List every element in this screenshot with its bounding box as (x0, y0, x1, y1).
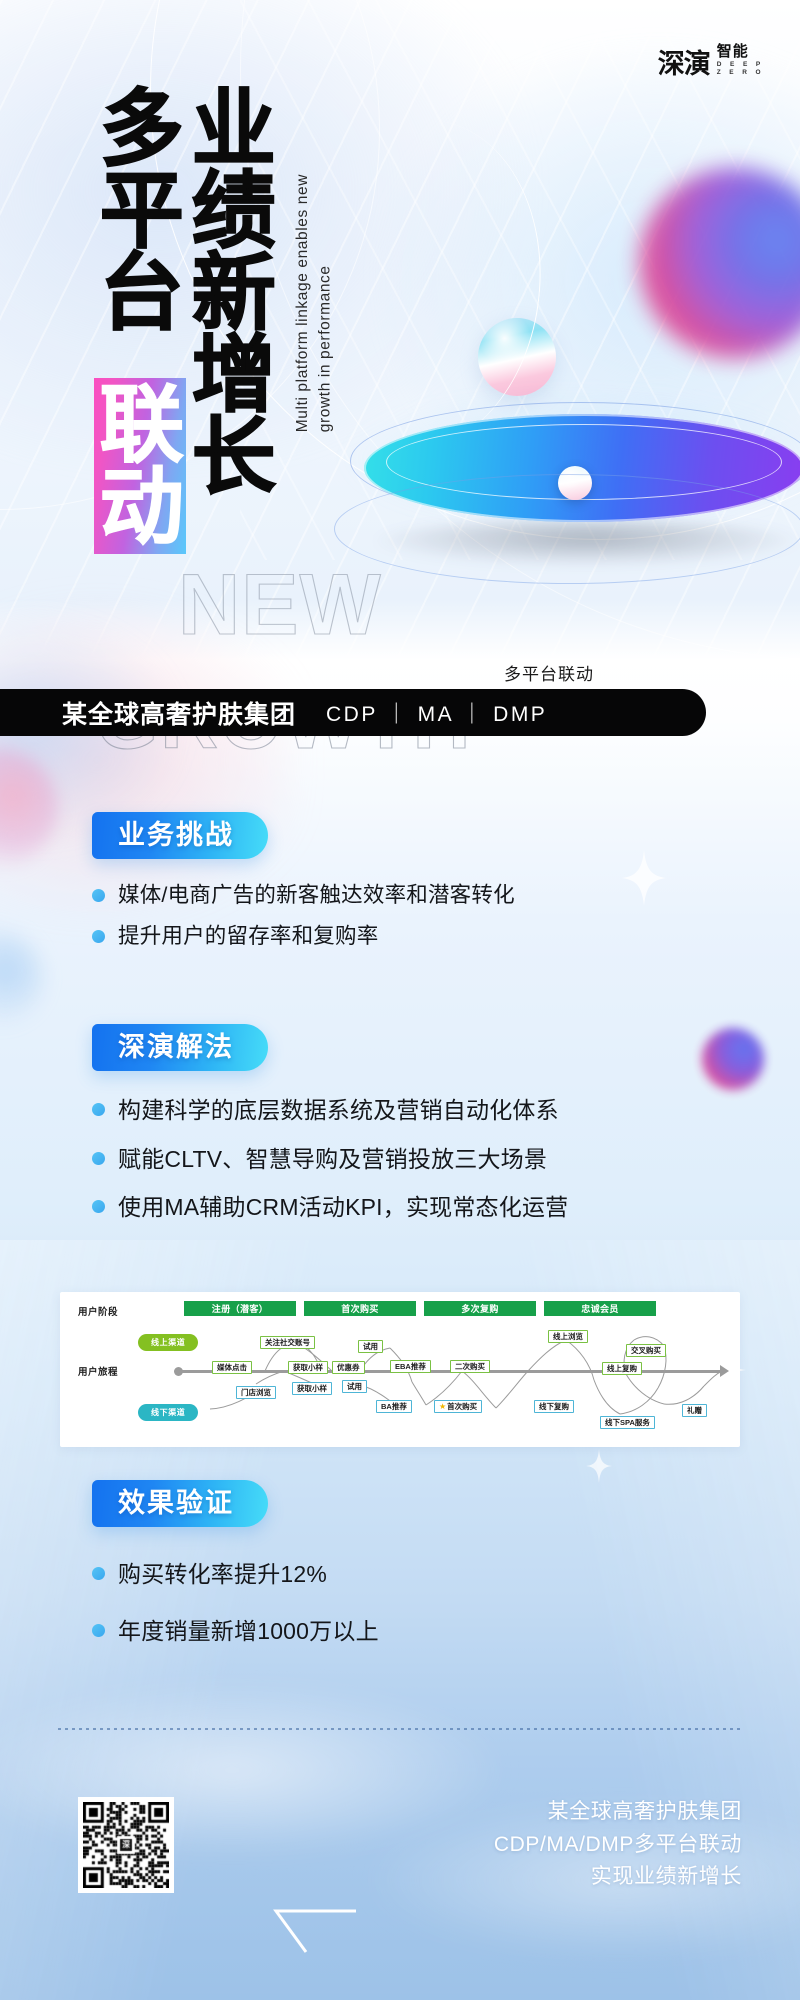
diagram-channel-online: 线上渠道 (138, 1334, 198, 1351)
diagram-stage-3: 多次复购 (424, 1301, 536, 1316)
logo-cn-text: 智能 (717, 44, 749, 61)
section-solution: 深演解法 构建科学的底层数据系统及营销自动化体系 赋能CLTV、智慧导购及营销投… (92, 1024, 800, 1234)
hero-title-right-column: 业绩新增长 (188, 84, 265, 494)
section-results: 效果验证 购买转化率提升12% 年度销量新增1000万以上 (92, 1480, 800, 1657)
diagram-touchpoint: BA推荐 (376, 1400, 412, 1413)
diagram-stage-1: 注册（潜客） (184, 1301, 296, 1316)
diagram-row-label-journey: 用户旅程 (78, 1364, 118, 1378)
section-badge-3-label: 效果验证 (118, 1480, 234, 1527)
hero-english-subtitle: Multi platform linkage enables new growt… (292, 174, 337, 432)
hero-title-block: NEW 多平台 联动 业绩新增长 Multi platform linkage … (0, 84, 420, 584)
bullet-text: 使用MA辅助CRM活动KPI，实现常态化运营 (118, 1190, 568, 1225)
bullet-text: 年度销量新增1000万以上 (118, 1614, 379, 1649)
user-journey-diagram: 用户阶段 用户旅程 注册（潜客） 首次购买 多次复购 忠诚会员 线上渠道 线下渠… (60, 1292, 740, 1447)
diagram-touchpoint: 二次购买 (450, 1360, 490, 1373)
hero-title-left-column: 多平台 (96, 84, 173, 330)
bullet-dot-icon (92, 1624, 105, 1637)
client-product-tags: CDP ｜ MA ｜ DMP (326, 698, 547, 728)
diagram-touchpoint-label: 首次购买 (447, 1401, 477, 1412)
diagram-row-label-stage: 用户阶段 (78, 1304, 118, 1318)
diagram-touchpoint: 礼赠 (682, 1404, 707, 1417)
section-badge-1: 业务挑战 (92, 812, 268, 859)
section-2-bullets: 构建科学的底层数据系统及营销自动化体系 赋能CLTV、智慧导购及营销投放三大场景… (92, 1093, 800, 1225)
diagram-touchpoint: 交叉购买 (626, 1344, 666, 1357)
bullet-dot-icon (92, 1103, 105, 1116)
bullet-text: 构建科学的底层数据系统及营销自动化体系 (118, 1093, 559, 1128)
bullet-text: 购买转化率提升12% (118, 1557, 327, 1592)
diagram-touchpoint: EBA推荐 (390, 1360, 431, 1373)
bullet-item: 年度销量新增1000万以上 (92, 1614, 800, 1649)
diagram-touchpoint-first-purchase: ★首次购买 (434, 1400, 482, 1413)
section-badge-3: 效果验证 (92, 1480, 268, 1527)
brand-logo: 深演 智能 D E E P Z E R O (658, 44, 764, 78)
diagram-touchpoint: 线下复购 (534, 1400, 574, 1413)
diagram-timeline-arrow-icon (720, 1365, 729, 1377)
bullet-dot-icon (92, 1567, 105, 1580)
bullet-text: 赋能CLTV、智慧导购及营销投放三大场景 (118, 1142, 547, 1177)
logo-mark-text: 深演 (658, 51, 710, 78)
diagram-touchpoint: 试用 (358, 1340, 383, 1353)
footer-text-block: 某全球高奢护肤集团 CDP/MA/DMP多平台联动 实现业绩新增长 (494, 1796, 742, 1894)
client-name: 某全球高奢护肤集团 (62, 695, 296, 731)
bullet-item: 提升用户的留存率和复购率 (92, 920, 800, 952)
bullet-item: 媒体/电商广告的新客触达效率和潜客转化 (92, 879, 800, 911)
diagram-touchpoint: 门店浏览 (236, 1386, 276, 1399)
diagram-channel-offline: 线下渠道 (138, 1404, 198, 1421)
hero-subline: 多平台联动 (504, 660, 594, 685)
diagram-touchpoint: 媒体点击 (212, 1361, 252, 1374)
poster-canvas: 深演 智能 D E E P Z E R O NEW 多平台 联动 业绩新增长 M… (0, 0, 800, 2000)
diagram-touchpoint: 优惠券 (332, 1361, 365, 1374)
footer-line-3: 实现业绩新增长 (494, 1861, 742, 1894)
diagram-touchpoint: 获取小样 (292, 1382, 332, 1395)
footer-line-1: 某全球高奢护肤集团 (494, 1796, 742, 1829)
star-icon: ★ (439, 1402, 446, 1411)
diagram-touchpoint: 获取小样 (288, 1361, 328, 1374)
outline-word-new: NEW (178, 562, 382, 648)
logo-en-line2: Z E R O (717, 69, 764, 78)
section-badge-1-label: 业务挑战 (118, 812, 234, 859)
bullet-item: 购买转化率提升12% (92, 1557, 800, 1592)
bullet-dot-icon (92, 1152, 105, 1165)
bullet-dot-icon (92, 1200, 105, 1213)
diagram-touchpoint: 线上浏览 (548, 1330, 588, 1343)
section-1-bullets: 媒体/电商广告的新客触达效率和潜客转化 提升用户的留存率和复购率 (92, 879, 800, 953)
client-bar: 某全球高奢护肤集团 CDP ｜ MA ｜ DMP (0, 689, 706, 736)
bullet-dot-icon (92, 930, 105, 943)
diagram-stage-4: 忠诚会员 (544, 1301, 656, 1316)
qr-code[interactable] (78, 1797, 174, 1893)
bullet-item: 使用MA辅助CRM活动KPI，实现常态化运营 (92, 1190, 800, 1225)
footer-divider (58, 1728, 742, 1730)
corner-arrow-icon (262, 1908, 358, 1959)
qr-code-canvas[interactable] (83, 1802, 169, 1888)
diagram-touchpoint: 试用 (342, 1380, 367, 1393)
logo-en-line1: D E E P (717, 61, 764, 70)
hero-title-highlight: 联动 (96, 380, 173, 544)
bullet-dot-icon (92, 889, 105, 902)
diagram-touchpoint: 关注社交账号 (260, 1336, 315, 1349)
diagram-stage-2: 首次购买 (304, 1301, 416, 1316)
footer-line-2: CDP/MA/DMP多平台联动 (494, 1829, 742, 1862)
bullet-text: 媒体/电商广告的新客触达效率和潜客转化 (118, 879, 515, 911)
section-3-bullets: 购买转化率提升12% 年度销量新增1000万以上 (92, 1557, 800, 1648)
section-business-challenge: 业务挑战 媒体/电商广告的新客触达效率和潜客转化 提升用户的留存率和复购率 (92, 812, 800, 962)
bullet-item: 构建科学的底层数据系统及营销自动化体系 (92, 1093, 800, 1128)
diagram-touchpoint: 线上复购 (602, 1362, 642, 1375)
diagram-timeline-start-dot (174, 1367, 183, 1376)
bullet-text: 提升用户的留存率和复购率 (118, 920, 378, 952)
diagram-touchpoint: 线下SPA服务 (600, 1416, 655, 1429)
logo-wordmark: 智能 D E E P Z E R O (717, 44, 764, 78)
section-badge-2-label: 深演解法 (118, 1024, 234, 1071)
bullet-item: 赋能CLTV、智慧导购及营销投放三大场景 (92, 1142, 800, 1177)
section-badge-2: 深演解法 (92, 1024, 268, 1071)
